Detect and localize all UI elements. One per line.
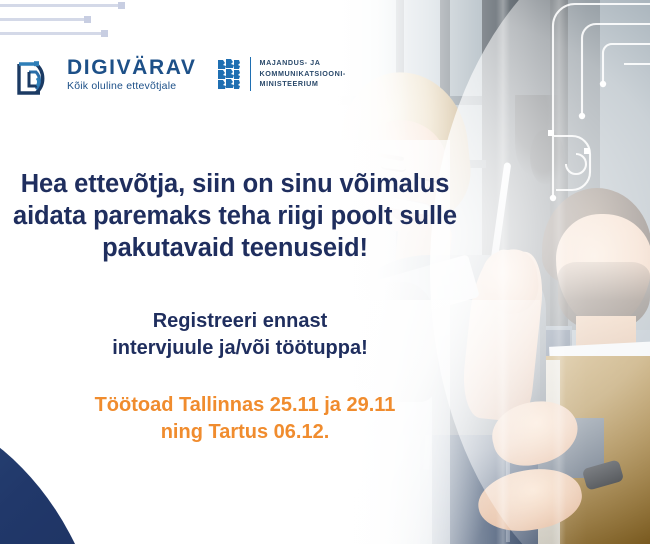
ministry-name-line-3: MINISTEERIUM [260,79,346,90]
headline-line-3: pakutavaid teenuseid! [0,232,470,264]
deco-line-1 [0,4,118,7]
digivarav-tagline: Kõik oluline ettevõtjale [67,81,197,92]
ministry-logo[interactable]: MAJANDUS- JA KOMMUNIKATSIOONI- MINISTEER… [217,57,346,91]
deco-line-2 [0,18,84,21]
ministry-name-line-2: KOMMUNIKATSIOONI- [260,69,346,80]
logo-row: DIGIVÄRAV Kõik oluline ettevõtjale [16,52,346,96]
ministry-name: MAJANDUS- JA KOMMUNIKATSIOONI- MINISTEER… [260,58,346,90]
decorative-lines-top-left [0,0,200,50]
headline-line-2: aidata paremaks teha riigi poolt sulle [0,200,470,232]
subheadline-line-1: Registreeri ennast [0,308,480,335]
circuit-lines-top-right-icon [500,0,650,206]
headline-line-1: Hea ettevõtja, siin on sinu võimalus [0,168,470,200]
ministry-divider [250,57,251,91]
workshop-dates: Töötoad Tallinnas 25.11 ja 29.11 ning Ta… [0,392,490,445]
digivarav-spiral-mark-icon [16,52,56,96]
estonian-coat-of-arms-three-lions-icon [217,58,241,90]
deco-line-3 [0,32,101,35]
digivarav-campaign-banner: DIGIVÄRAV Kõik oluline ettevõtjale [0,0,650,544]
deco-line-2-dot [84,16,91,23]
digivarav-wordmark: DIGIVÄRAV Kõik oluline ettevõtjale [67,57,197,92]
deco-line-3-dot [101,30,108,37]
subheadline: Registreeri ennast intervjuule ja/või tö… [0,308,480,361]
subheadline-line-2: intervjuule ja/või töötuppa! [0,335,480,362]
headline: Hea ettevõtja, siin on sinu võimalus aid… [0,168,470,264]
workshop-dates-line-1: Töötoad Tallinnas 25.11 ja 29.11 [0,392,490,419]
ministry-name-line-1: MAJANDUS- JA [260,58,346,69]
deco-line-1-dot [118,2,125,9]
digivarav-name: DIGIVÄRAV [67,57,197,78]
workshop-dates-line-2: ning Tartus 06.12. [0,419,490,446]
digivarav-logo[interactable]: DIGIVÄRAV Kõik oluline ettevõtjale [16,52,197,96]
